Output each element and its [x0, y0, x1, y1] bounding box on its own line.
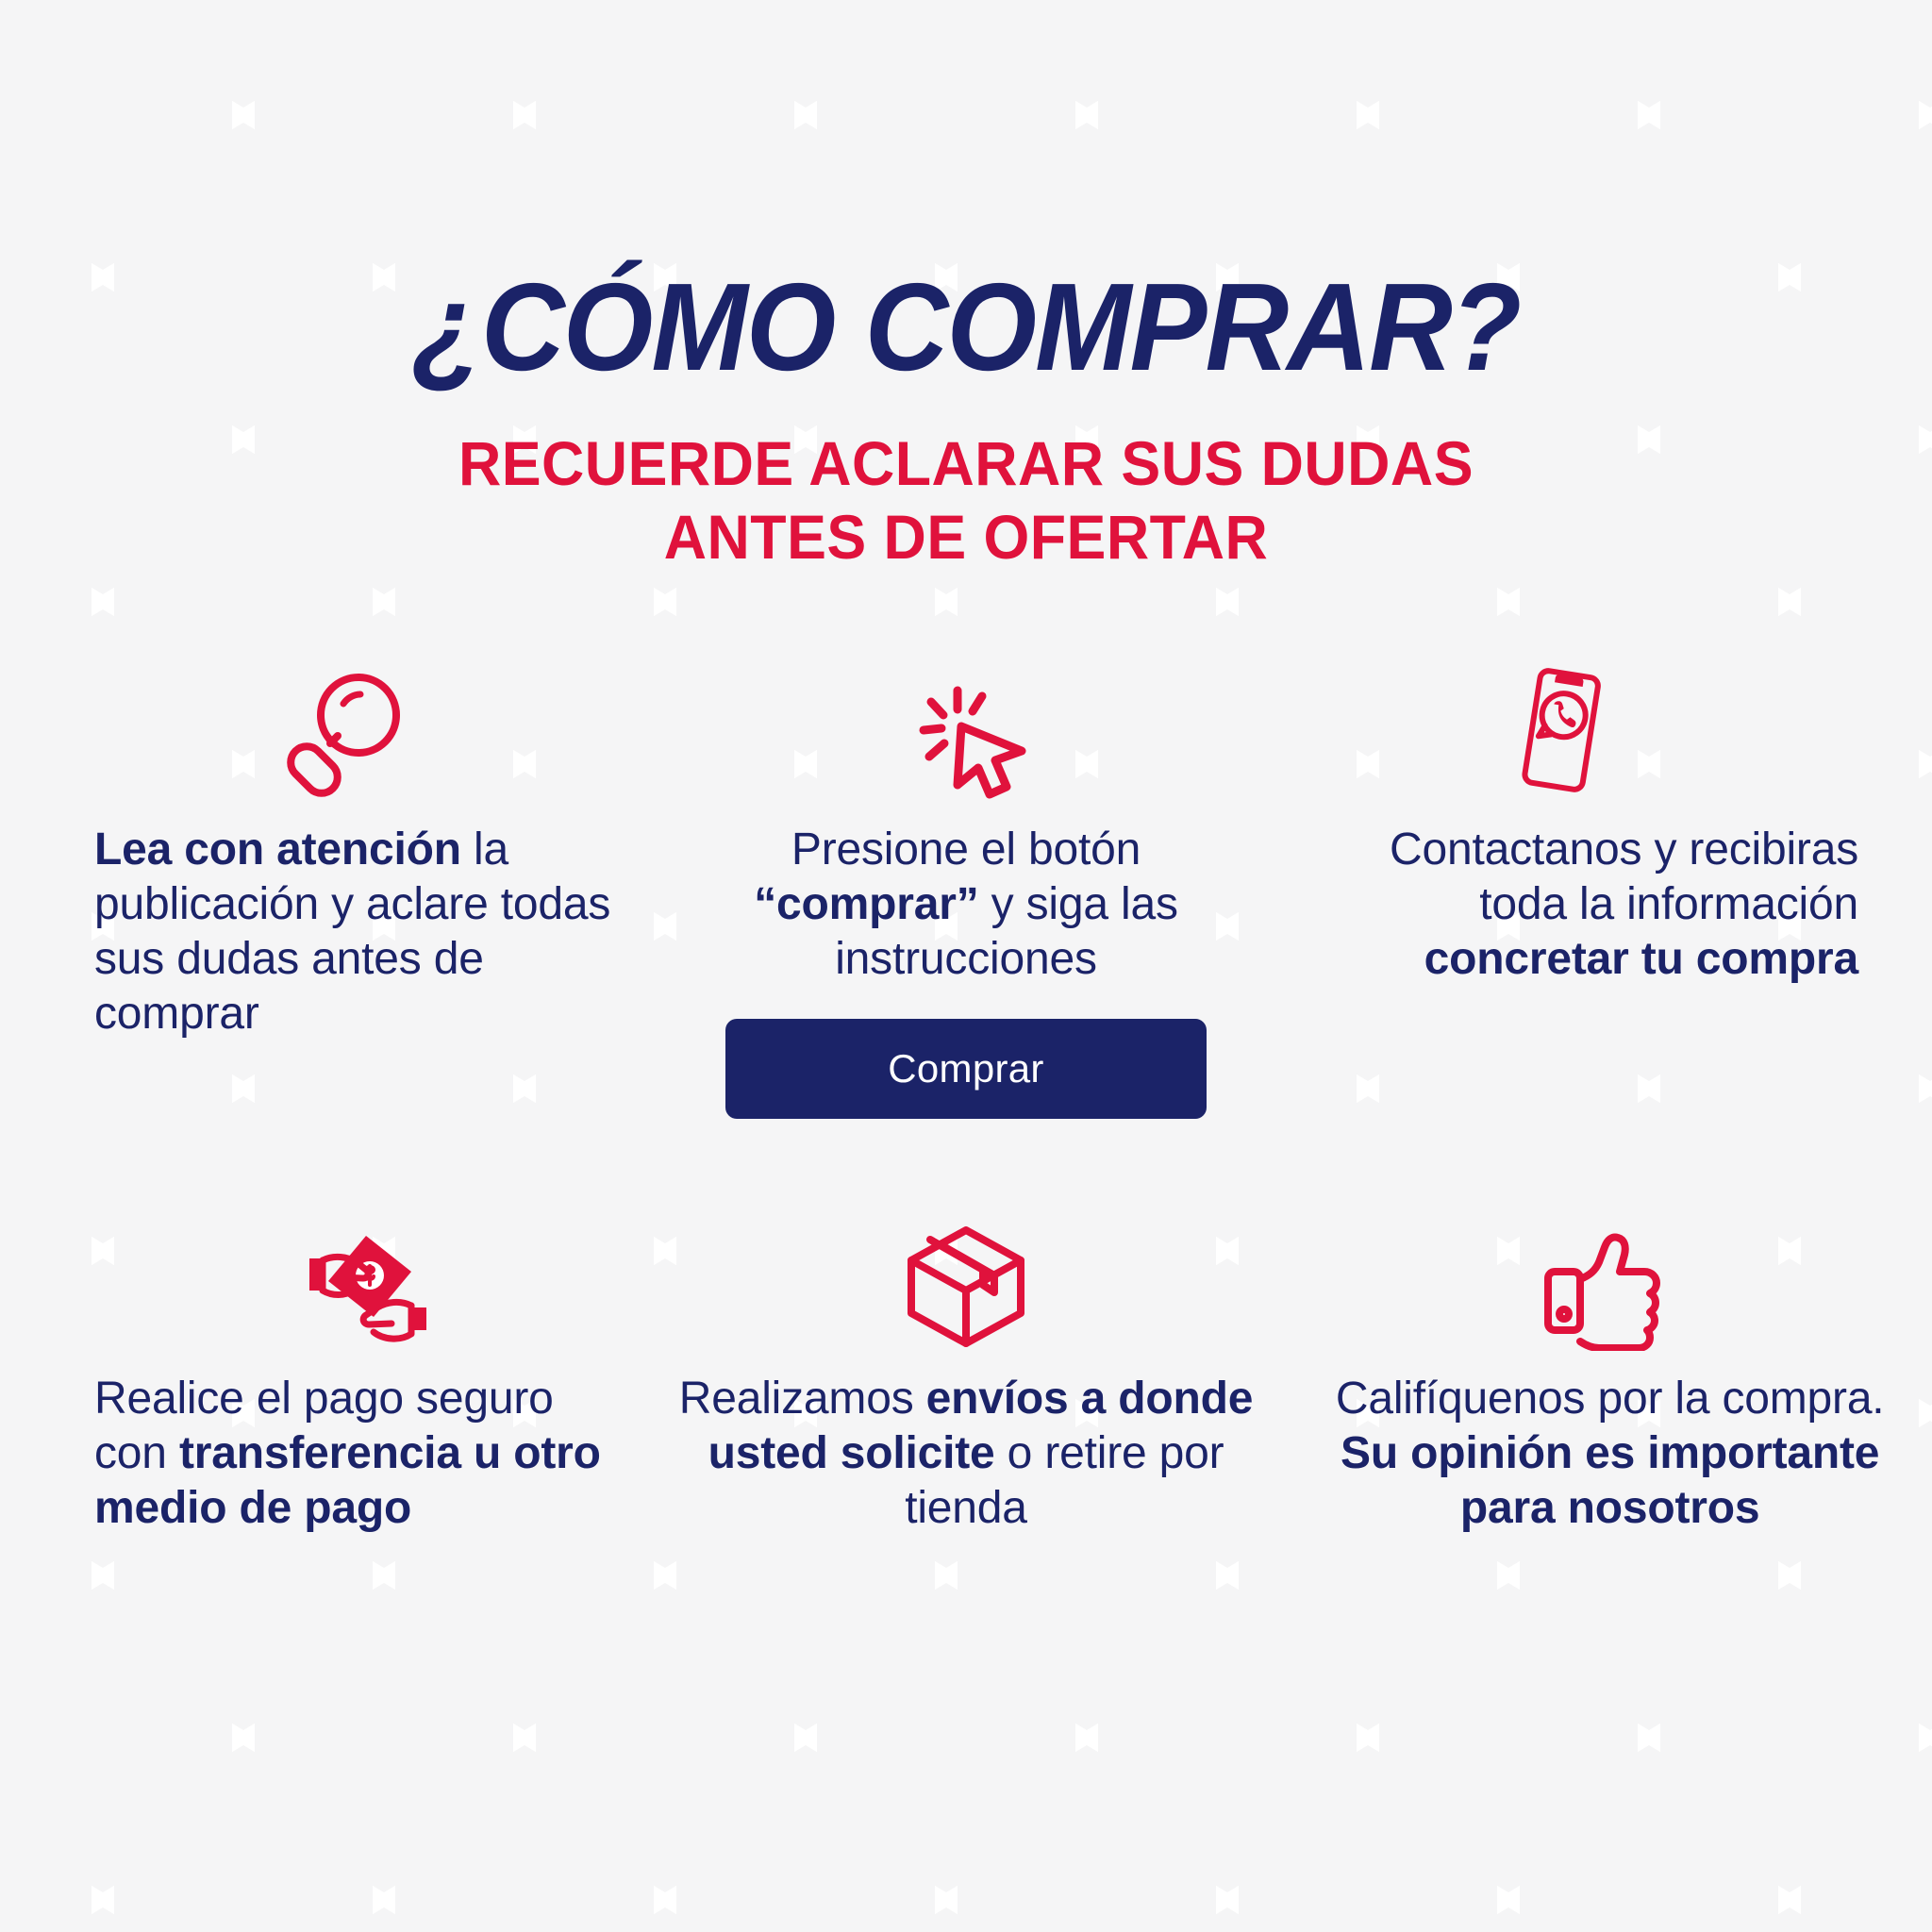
- step-payment-text: Realice el pago seguro con transferencia…: [94, 1351, 612, 1536]
- step-contact-plain: Contactanos y recibiras toda la informac…: [1390, 824, 1858, 929]
- header: ¿CÓMO COMPRAR? RECUERDE ACLARAR SUS DUDA…: [0, 0, 1932, 574]
- page-subtitle: RECUERDE ACLARAR SUS DUDAS ANTES DE OFER…: [48, 383, 1884, 574]
- step-contact-text: Contactanos y recibiras toda la informac…: [1320, 802, 1858, 987]
- step-shipping-text: Realizamos envíos a donde usted solicite…: [676, 1351, 1257, 1536]
- step-press-text: Presione el botón “comprar” y siga las i…: [676, 802, 1257, 987]
- step-press-plain: Presione el botón: [791, 824, 1141, 874]
- subtitle-line-1: RECUERDE ACLARAR SUS DUDAS: [48, 426, 1884, 500]
- whatsapp-phone-icon: [1320, 660, 1858, 802]
- step-rating: Califíquenos por la compra. Su opinión e…: [1288, 1119, 1932, 1536]
- infographic-page: ¿CÓMO COMPRAR? RECUERDE ACLARAR SUS DUDA…: [0, 0, 1932, 1932]
- step-rating-plain: Califíquenos por la compra.: [1336, 1374, 1885, 1424]
- comprar-button[interactable]: Comprar: [725, 1019, 1207, 1119]
- step-rating-bold: Su opinión es importante para nosotros: [1341, 1428, 1879, 1533]
- magnifier-icon: [94, 660, 612, 802]
- steps-grid: Lea con atención la publicación y aclare…: [0, 660, 1932, 1536]
- step-shipping: Realizamos envíos a donde usted solicite…: [644, 1119, 1289, 1536]
- step-read: Lea con atención la publicación y aclare…: [0, 660, 644, 1119]
- step-read-text: Lea con atención la publicación y aclare…: [94, 802, 612, 1041]
- subtitle-line-2: ANTES DE OFERTAR: [48, 500, 1884, 574]
- step-contact-bold: concretar tu compra: [1424, 934, 1858, 984]
- step-press-bold: “comprar”: [754, 879, 978, 929]
- package-box-icon: [676, 1209, 1257, 1351]
- step-shipping-plain: Realizamos: [679, 1374, 926, 1424]
- click-cursor-icon: [676, 660, 1257, 802]
- step-read-bold: Lea con atención: [94, 824, 461, 874]
- money-hands-icon: [94, 1209, 612, 1351]
- step-rating-text: Califíquenos por la compra. Su opinión e…: [1320, 1351, 1900, 1536]
- step-press-button: Presione el botón “comprar” y siga las i…: [644, 660, 1289, 1119]
- thumbs-up-icon: [1320, 1209, 1900, 1351]
- step-contact: Contactanos y recibiras toda la informac…: [1288, 660, 1932, 1119]
- page-title: ¿CÓMO COMPRAR?: [68, 0, 1865, 383]
- step-payment: Realice el pago seguro con transferencia…: [0, 1119, 644, 1536]
